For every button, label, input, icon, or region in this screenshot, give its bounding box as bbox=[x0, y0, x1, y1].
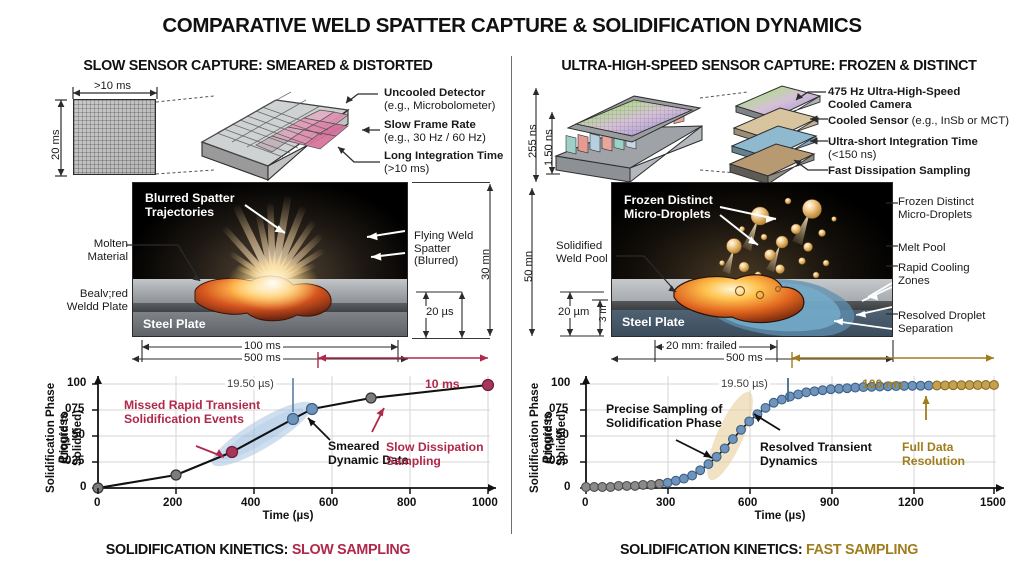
right-inner-dim-label2: 3 m bbox=[598, 305, 609, 322]
left-chart-xlabel: Time (µs) bbox=[198, 509, 378, 522]
right-chart-marker bbox=[924, 381, 933, 390]
right-solidified-leader bbox=[614, 252, 688, 298]
left-panel-title: SLOW SENSOR CAPTURE: SMEARED & DISTORTED bbox=[18, 58, 498, 74]
right-chart-marker bbox=[647, 481, 656, 490]
right-chart-marker bbox=[818, 386, 827, 395]
left-ytick-1: 025 bbox=[65, 454, 84, 467]
page-title: COMPARATIVE WELD SPATTER CAPTURE & SOLID… bbox=[0, 14, 1024, 38]
right-chart-marker bbox=[696, 466, 705, 475]
left-xtick-0: 0 bbox=[94, 496, 100, 509]
right-annot-marker-time: 19.50 µs) bbox=[719, 378, 770, 390]
right-dim-outer-label: 255 ns bbox=[527, 124, 539, 158]
right-chart-marker bbox=[965, 381, 974, 390]
right-chart-marker bbox=[957, 381, 966, 390]
right-chart-marker bbox=[606, 483, 615, 492]
left-dim-100ms: 100 ms bbox=[242, 340, 283, 352]
right-label-ticks bbox=[886, 196, 900, 326]
right-chart-marker bbox=[981, 381, 990, 390]
right-chart-marker bbox=[786, 392, 795, 401]
left-ytick-3: 075 bbox=[65, 402, 84, 415]
right-chart-marker bbox=[655, 479, 664, 488]
right-zone-arrows bbox=[790, 279, 893, 337]
right-callout-1: Cooled Sensor (e.g., InSb or MCT) bbox=[828, 115, 1024, 128]
left-callout-2: Long Integration Time (>10 ms) bbox=[384, 150, 514, 175]
right-scene-label-cooling: Rapid CoolingZones bbox=[898, 262, 1018, 287]
right-annot-precise: Precise Sampling ofSolidification Phase bbox=[606, 402, 786, 430]
right-chart-marker bbox=[688, 471, 697, 480]
right-chart-marker bbox=[582, 483, 591, 492]
left-ytick-2: 50 bbox=[72, 428, 85, 441]
right-chart-marker bbox=[631, 482, 640, 491]
right-chart-marker bbox=[729, 435, 738, 444]
right-scene-label-solidified: SolidifiedWeld Pool bbox=[556, 240, 618, 265]
right-chart-marker bbox=[908, 381, 917, 390]
right-dim-20mm: 20 mm: frailed bbox=[664, 340, 739, 352]
right-chart-marker bbox=[835, 384, 844, 393]
right-chart-marker bbox=[933, 381, 942, 390]
right-chart-marker bbox=[794, 390, 803, 399]
right-inner-dim-label: 20 µm bbox=[556, 306, 591, 318]
left-sensor-width-label: >10 ms bbox=[92, 80, 133, 92]
right-xtick-4: 1200 bbox=[898, 496, 924, 509]
left-xtick-1: 200 bbox=[163, 496, 182, 509]
right-xtick-2: 600 bbox=[738, 496, 757, 509]
right-scene-label-melt-pool: Melt Pool bbox=[898, 242, 1018, 255]
right-ytick-3: 075 bbox=[549, 402, 568, 415]
left-bottom-title: SOLIDIFICATION KINETICS: SLOW SAMPLING bbox=[18, 542, 498, 558]
left-molten-leader bbox=[126, 241, 208, 293]
right-sensor-stack bbox=[552, 82, 712, 184]
right-callout-leaders bbox=[786, 86, 830, 178]
left-chart-svg bbox=[72, 372, 502, 500]
left-callout-leaders bbox=[318, 86, 384, 176]
right-chart-marker bbox=[614, 482, 623, 491]
right-annot-full-data: Full DataResolution bbox=[902, 440, 1002, 468]
left-sensor-height-label: 20 ms bbox=[50, 130, 62, 160]
right-dim-500ms: 500 ms bbox=[724, 352, 765, 364]
right-annot-span: 100 ms bbox=[862, 377, 903, 391]
right-scene-label-droplets: Frozen DistinctMicro-Droplets bbox=[898, 196, 1018, 221]
right-chart bbox=[556, 372, 1012, 500]
right-xtick-5: 1500 bbox=[980, 496, 1006, 509]
left-xtick-4: 800 bbox=[397, 496, 416, 509]
left-chart bbox=[72, 372, 502, 500]
diagram-page: COMPARATIVE WELD SPATTER CAPTURE & SOLID… bbox=[0, 0, 1024, 572]
left-steel-plate-tag: Steel Plate bbox=[143, 317, 206, 331]
left-annot-missed: Missed Rapid TransientSolidification Eve… bbox=[124, 398, 324, 426]
left-annot-span: 10 ms bbox=[425, 377, 460, 391]
right-ytick-1: 025 bbox=[549, 454, 568, 467]
left-scene-inside-label: Blurred SpatterTrajectories bbox=[145, 191, 235, 219]
left-inner-height-label: 20 µs bbox=[424, 306, 456, 318]
left-ytick-0: 0 bbox=[80, 480, 86, 493]
right-chart-marker bbox=[949, 381, 958, 390]
right-chart-marker bbox=[843, 384, 852, 393]
right-chart-marker bbox=[826, 385, 835, 394]
right-chart-marker bbox=[973, 381, 982, 390]
right-steel-plate-tag: Steel Plate bbox=[622, 315, 685, 329]
right-chart-marker bbox=[680, 474, 689, 483]
right-scene-label-resolved: Resolved DropletSeparation bbox=[898, 310, 1018, 335]
right-scene-inside-label: Frozen DistinctMicro-Droplets bbox=[624, 193, 713, 221]
left-annot-marker-time: 19.50 µs) bbox=[225, 378, 276, 390]
left-callout-0: Uncooled Detector (e.g., Microbolometer) bbox=[384, 87, 514, 112]
right-chart-marker bbox=[590, 483, 599, 492]
right-chart-marker bbox=[851, 383, 860, 392]
right-chart-marker bbox=[916, 381, 925, 390]
right-chart-marker bbox=[802, 388, 811, 397]
right-ytick-2: 50 bbox=[556, 428, 569, 441]
right-chart-xlabel: Time (µs) bbox=[690, 509, 870, 522]
left-scene-label-flying-spatter: Flying Weld Spatter (Blurred) bbox=[414, 230, 480, 268]
right-panel-title: ULTRA-HIGH-SPEED SENSOR CAPTURE: FROZEN … bbox=[524, 58, 1014, 74]
right-chart-marker bbox=[990, 381, 999, 390]
left-dim-500ms: 500 ms bbox=[242, 352, 283, 364]
right-droplet-arrows bbox=[720, 205, 792, 255]
right-xtick-1: 300 bbox=[656, 496, 675, 509]
right-chart-marker bbox=[712, 452, 721, 461]
left-scene-label-molten: MoltenMaterial bbox=[58, 238, 128, 263]
right-callout-2: Ultra-short Integration Time (<150 ns) bbox=[828, 136, 1018, 161]
left-xtick-3: 600 bbox=[319, 496, 338, 509]
right-callout-0: 475 Hz Ultra-High-Speed Cooled Camera bbox=[828, 86, 1018, 111]
left-callout-1: Slow Frame Rate (e.g., 30 Hz / 60 Hz) bbox=[384, 119, 514, 144]
right-xtick-3: 900 bbox=[820, 496, 839, 509]
right-bottom-title: SOLIDIFICATION KINETICS: FAST SAMPLING bbox=[524, 542, 1014, 558]
right-chart-marker bbox=[810, 387, 819, 396]
right-dim-inner-label: 1.50 ns bbox=[543, 129, 555, 166]
left-ytick-4: 100 bbox=[67, 376, 86, 389]
left-annot-slow-dissipation: Slow DissipationSampling bbox=[386, 440, 506, 468]
right-chart-marker bbox=[671, 476, 680, 485]
right-callout-3: Fast Dissipation Sampling bbox=[828, 165, 1018, 178]
right-chart-marker bbox=[598, 483, 607, 492]
left-flat-detector-array bbox=[73, 99, 156, 175]
left-xtick-2: 400 bbox=[241, 496, 260, 509]
right-chart-marker bbox=[704, 460, 713, 469]
right-xtick-0: 0 bbox=[582, 496, 588, 509]
left-scene-height-label: 30 mn bbox=[480, 249, 492, 280]
right-annot-resolved: Resolved TransientDynamics bbox=[760, 440, 890, 468]
right-ytick-0: 0 bbox=[564, 480, 570, 493]
left-blur-arrow bbox=[245, 203, 305, 245]
right-ytick-4: 100 bbox=[551, 376, 570, 389]
right-chart-marker bbox=[663, 478, 672, 487]
right-chart-svg bbox=[556, 372, 1012, 500]
right-chart-marker bbox=[720, 444, 729, 453]
right-scene-height-label: 50 mn bbox=[523, 251, 535, 282]
left-xtick-5: 1000 bbox=[472, 496, 498, 509]
right-chart-marker bbox=[639, 481, 648, 490]
right-chart-marker bbox=[622, 482, 631, 491]
right-chart-marker bbox=[941, 381, 950, 390]
left-scene-label-weld-plate: Bealv;redWeldd Plate bbox=[52, 288, 128, 313]
left-flying-spatter-arrows bbox=[329, 227, 408, 263]
